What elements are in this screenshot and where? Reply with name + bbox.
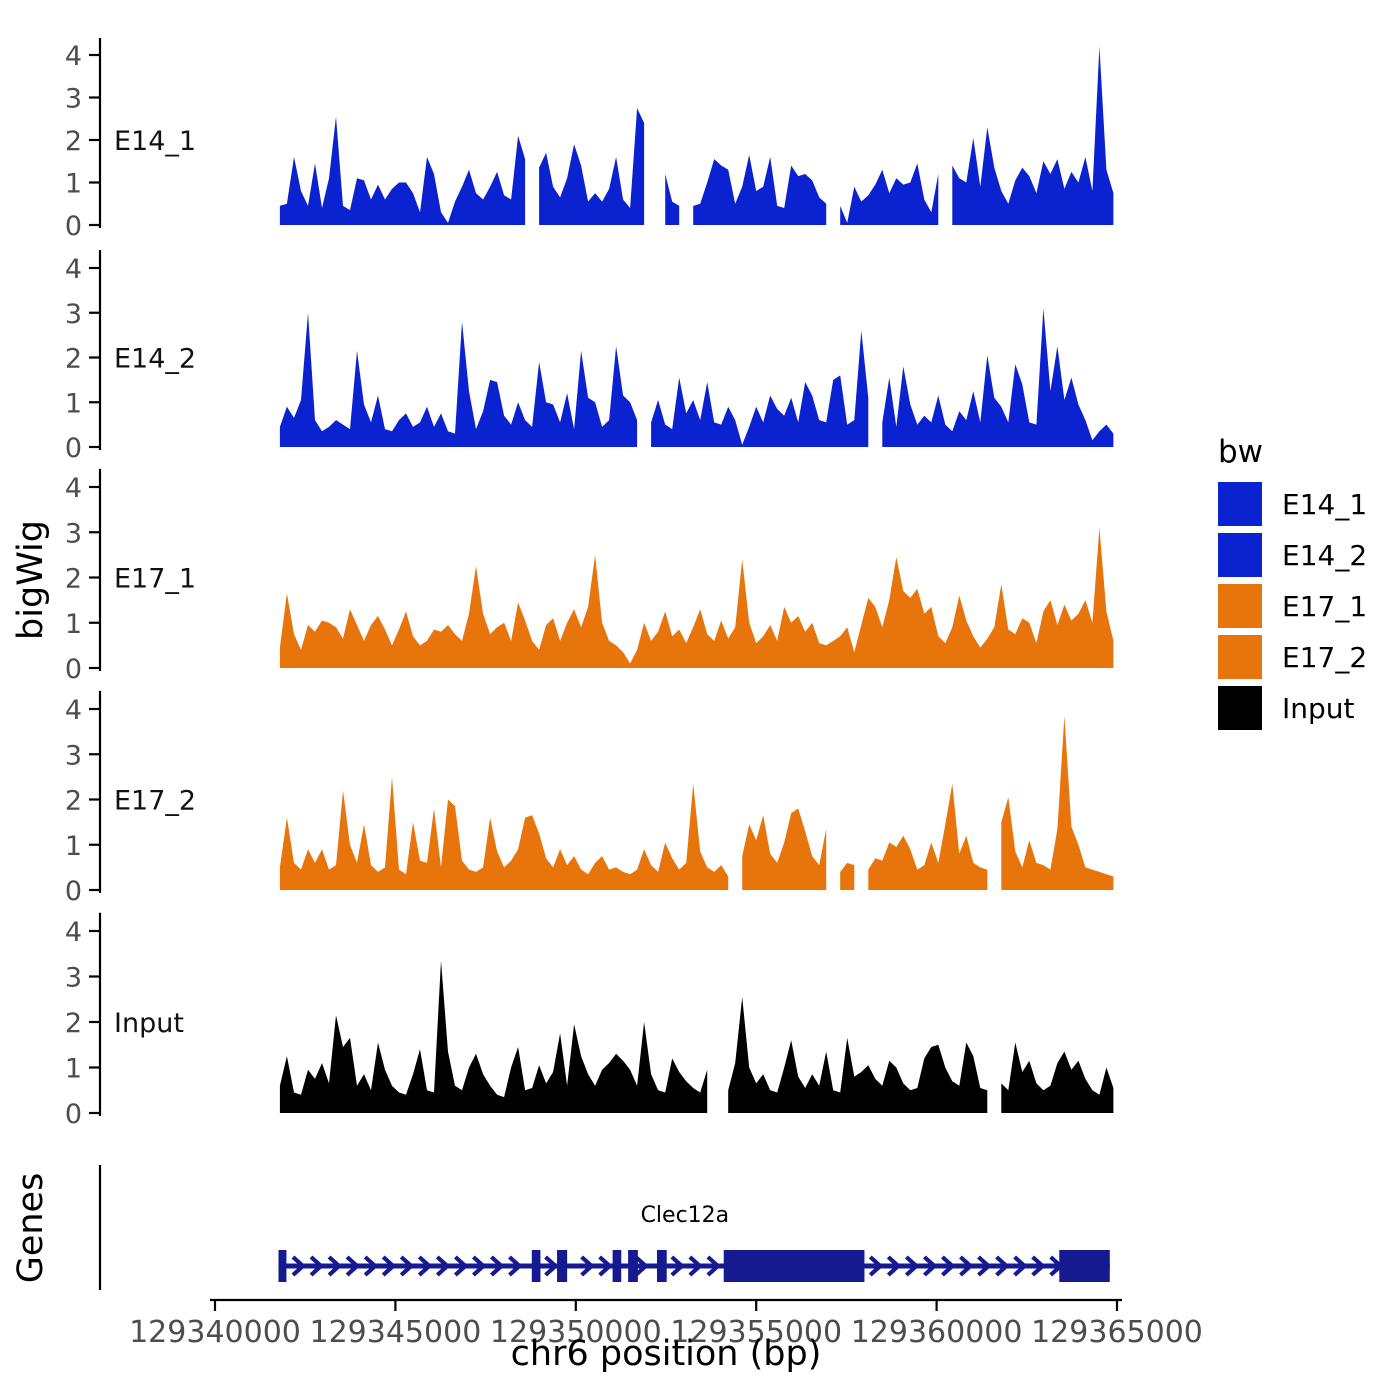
legend-swatch-e14_1[interactable] bbox=[1218, 482, 1262, 526]
y-tick-label: 0 bbox=[65, 876, 82, 907]
y-tick-label: 1 bbox=[65, 1054, 82, 1085]
gene-panel: GenesClec12a bbox=[11, 1165, 1110, 1290]
legend-swatch-e14_2[interactable] bbox=[1218, 533, 1262, 577]
y-tick-label: 1 bbox=[65, 831, 82, 862]
y-tick-label: 2 bbox=[65, 126, 82, 157]
y-tick-label: 4 bbox=[65, 917, 82, 948]
coverage-area-input bbox=[280, 961, 707, 1113]
legend-label-e14_2: E14_2 bbox=[1282, 539, 1367, 572]
coverage-area-e14_1 bbox=[280, 117, 525, 225]
legend-swatch-input[interactable] bbox=[1218, 686, 1262, 730]
legend: bwE14_1E14_2E17_1E17_2Input bbox=[1218, 434, 1367, 730]
y-tick-label: 4 bbox=[65, 473, 82, 504]
gene-exon bbox=[532, 1250, 541, 1282]
y-tick-label: 3 bbox=[65, 299, 82, 330]
coverage-area-e17_2 bbox=[840, 863, 854, 890]
coverage-area-e14_2 bbox=[651, 331, 868, 447]
y-tick-label: 2 bbox=[65, 564, 82, 595]
track-panel-e14_2: 01234E14_2 bbox=[65, 250, 1114, 464]
y-tick-label: 4 bbox=[65, 695, 82, 726]
y-tick-label: 4 bbox=[65, 254, 82, 285]
y-tick-label: 0 bbox=[65, 433, 82, 464]
coverage-area-input bbox=[1001, 1043, 1113, 1114]
legend-swatch-e17_1[interactable] bbox=[1218, 584, 1262, 628]
y-tick-label: 2 bbox=[65, 1008, 82, 1039]
coverage-area-e14_1 bbox=[693, 155, 826, 225]
legend-label-e14_1: E14_1 bbox=[1282, 488, 1367, 521]
y-tick-label: 4 bbox=[65, 41, 82, 72]
track-panel-e17_2: 01234E17_2 bbox=[65, 691, 1114, 907]
gene-exon bbox=[613, 1250, 622, 1282]
y-tick-label: 2 bbox=[65, 786, 82, 817]
x-tick-label: 129360000 bbox=[851, 1315, 1023, 1350]
y-tick-label: 3 bbox=[65, 963, 82, 994]
gene-name-label: Clec12a bbox=[641, 1203, 730, 1228]
legend-label-e17_1: E17_1 bbox=[1282, 590, 1367, 623]
gene-exon bbox=[724, 1250, 865, 1282]
y-tick-label: 3 bbox=[65, 740, 82, 771]
y-tick-label: 1 bbox=[65, 609, 82, 640]
coverage-area-e14_1 bbox=[952, 47, 1113, 226]
track-label-e17_2: E17_2 bbox=[114, 786, 196, 817]
y-tick-label: 3 bbox=[65, 518, 82, 549]
coverage-area-e14_1 bbox=[665, 174, 679, 225]
y-tick-label: 0 bbox=[65, 1099, 82, 1130]
coverage-area-e17_1 bbox=[280, 528, 1114, 668]
track-label-e17_1: E17_1 bbox=[114, 564, 196, 595]
track-panel-e17_1: 01234E17_1 bbox=[65, 469, 1114, 685]
gene-exon bbox=[557, 1250, 567, 1282]
genome-browser-figure: 01234E14_101234E14_201234E17_101234E17_2… bbox=[0, 0, 1400, 1400]
y-tick-label: 0 bbox=[65, 211, 82, 242]
x-tick-label: 129365000 bbox=[1031, 1315, 1203, 1350]
track-panel-e14_1: 01234E14_1 bbox=[65, 38, 1114, 242]
coverage-area-e14_1 bbox=[539, 108, 644, 225]
y-tick-label: 3 bbox=[65, 84, 82, 115]
gene-exon bbox=[1059, 1250, 1110, 1282]
track-label-input: Input bbox=[114, 1008, 184, 1039]
x-tick-label: 129340000 bbox=[129, 1315, 301, 1350]
gene-exon bbox=[279, 1250, 287, 1282]
y-tick-label: 1 bbox=[65, 388, 82, 419]
coverage-area-e14_2 bbox=[280, 313, 637, 447]
coverage-area-e17_2 bbox=[1001, 716, 1113, 890]
coverage-area-e14_1 bbox=[840, 163, 938, 225]
legend-label-input: Input bbox=[1282, 692, 1355, 725]
y-axis-title-group: bigWig bbox=[11, 520, 51, 640]
track-panel-input: 01234Input bbox=[65, 913, 1114, 1130]
legend-label-e17_2: E17_2 bbox=[1282, 641, 1367, 674]
coverage-area-e14_2 bbox=[882, 308, 1113, 447]
legend-title: bw bbox=[1218, 434, 1263, 470]
legend-swatch-e17_2[interactable] bbox=[1218, 635, 1262, 679]
gene-exon bbox=[657, 1250, 667, 1282]
y-tick-label: 1 bbox=[65, 169, 82, 200]
gene-exon bbox=[628, 1250, 638, 1282]
coverage-area-input bbox=[728, 997, 987, 1113]
track-label-e14_1: E14_1 bbox=[114, 126, 196, 157]
y-tick-label: 2 bbox=[65, 344, 82, 375]
coverage-area-e17_2 bbox=[742, 809, 826, 891]
figure-root: 01234E14_101234E14_201234E17_101234E17_2… bbox=[0, 0, 1400, 1400]
genes-axis-title: Genes bbox=[11, 1173, 51, 1284]
x-axis: 1293400001293450001293500001293550001293… bbox=[129, 1300, 1203, 1374]
x-axis-title: chr6 position (bp) bbox=[511, 1334, 822, 1374]
coverage-area-e17_2 bbox=[868, 784, 987, 890]
y-tick-label: 0 bbox=[65, 654, 82, 685]
track-label-e14_2: E14_2 bbox=[114, 344, 196, 375]
y-axis-title: bigWig bbox=[11, 520, 51, 640]
coverage-area-e17_2 bbox=[280, 777, 728, 890]
x-tick-label: 129345000 bbox=[310, 1315, 482, 1350]
